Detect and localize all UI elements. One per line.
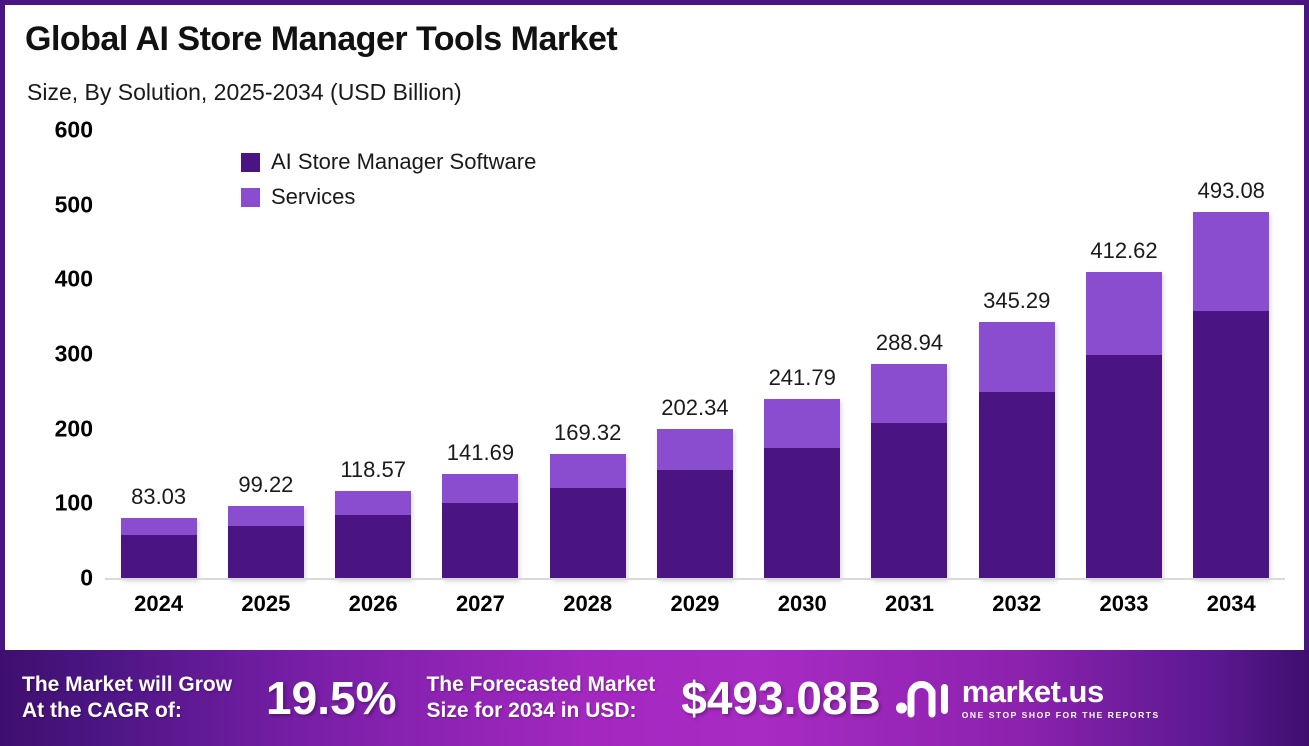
bar-stack[interactable] <box>121 518 197 580</box>
x-axis-tick: 2032 <box>979 591 1055 617</box>
infographic-page: Global AI Store Manager Tools Market Siz… <box>0 0 1309 746</box>
bar-group[interactable]: 345.29 <box>979 132 1055 580</box>
x-axis-tick: 2028 <box>550 591 626 617</box>
bar-segment-software[interactable] <box>657 470 733 580</box>
page-title: Global AI Store Manager Tools Market <box>25 20 617 59</box>
bar-group[interactable]: 493.08 <box>1193 132 1269 580</box>
bar-value-label: 202.34 <box>661 395 728 421</box>
bar-segment-services[interactable] <box>764 399 840 448</box>
bar-value-label: 169.32 <box>554 420 621 446</box>
y-axis-tick: 200 <box>55 415 93 442</box>
bar-segment-services[interactable] <box>979 322 1055 392</box>
bar-stack[interactable] <box>979 322 1055 580</box>
x-axis-tick: 2025 <box>228 591 304 617</box>
bar-group[interactable]: 412.62 <box>1086 132 1162 580</box>
x-axis-tick: 2027 <box>442 591 518 617</box>
forecast-caption: The Forecasted Market Size for 2034 in U… <box>426 672 655 723</box>
y-axis-tick: 100 <box>55 490 93 517</box>
bar-group[interactable]: 202.34 <box>657 132 733 580</box>
bar-group[interactable]: 241.79 <box>764 132 840 580</box>
market-us-logo-text: market.us ONE STOP SHOP FOR THE REPORTS <box>962 676 1160 720</box>
bar-segment-services[interactable] <box>550 454 626 488</box>
cagr-caption-line1: The Market will Grow <box>22 672 232 698</box>
bar-segment-services[interactable] <box>335 491 411 515</box>
bar-value-label: 241.79 <box>769 365 836 391</box>
y-axis-tick: 300 <box>55 341 93 368</box>
bar-stack[interactable] <box>228 506 304 580</box>
bar-group[interactable]: 118.57 <box>335 132 411 580</box>
bar-segment-services[interactable] <box>1086 272 1162 355</box>
bar-segment-software[interactable] <box>335 515 411 580</box>
bar-group[interactable]: 141.69 <box>442 132 518 580</box>
bar-segment-software[interactable] <box>1193 311 1269 580</box>
bar-value-label: 345.29 <box>983 288 1050 314</box>
bar-stack[interactable] <box>550 454 626 580</box>
bar-series: 83.0399.22118.57141.69169.32202.34241.79… <box>105 132 1285 580</box>
bar-group[interactable]: 288.94 <box>871 132 947 580</box>
bar-segment-software[interactable] <box>550 488 626 580</box>
x-axis-labels: 2024202520262027202820292030203120322033… <box>105 591 1285 617</box>
plot-area: 0100200300400500600 83.0399.22118.57141.… <box>105 130 1285 580</box>
bar-segment-software[interactable] <box>1086 355 1162 580</box>
bar-stack[interactable] <box>871 364 947 580</box>
chart-canvas: Global AI Store Manager Tools Market Siz… <box>5 5 1304 650</box>
page-subtitle: Size, By Solution, 2025-2034 (USD Billio… <box>27 79 462 106</box>
bar-segment-software[interactable] <box>228 526 304 580</box>
bar-stack[interactable] <box>442 474 518 580</box>
y-axis-tick: 600 <box>55 117 93 144</box>
bar-segment-software[interactable] <box>871 423 947 580</box>
cagr-caption: The Market will Grow At the CAGR of: <box>22 672 232 723</box>
x-axis-tick: 2034 <box>1193 591 1269 617</box>
summary-banner: The Market will Grow At the CAGR of: 19.… <box>0 650 1309 746</box>
bar-segment-software[interactable] <box>764 448 840 580</box>
bar-stack[interactable] <box>335 491 411 580</box>
y-axis-tick: 0 <box>80 565 93 592</box>
bar-segment-software[interactable] <box>979 392 1055 580</box>
bar-stack[interactable] <box>1193 212 1269 580</box>
y-axis-tick: 500 <box>55 191 93 218</box>
bar-group[interactable]: 169.32 <box>550 132 626 580</box>
bar-stack[interactable] <box>764 399 840 580</box>
bar-segment-services[interactable] <box>121 518 197 535</box>
bar-value-label: 288.94 <box>876 330 943 356</box>
x-axis-tick: 2024 <box>121 591 197 617</box>
forecast-caption-line2: Size for 2034 in USD: <box>426 698 655 724</box>
market-us-logo: market.us ONE STOP SHOP FOR THE REPORTS <box>895 676 1160 720</box>
cagr-value: 19.5% <box>266 671 396 725</box>
bar-segment-software[interactable] <box>121 535 197 580</box>
bar-value-label: 412.62 <box>1090 238 1157 264</box>
bar-segment-services[interactable] <box>657 429 733 470</box>
x-axis-tick: 2030 <box>764 591 840 617</box>
bar-group[interactable]: 83.03 <box>121 132 197 580</box>
bar-segment-services[interactable] <box>442 474 518 503</box>
logo-wordmark: market.us <box>962 676 1160 707</box>
x-axis-tick: 2026 <box>335 591 411 617</box>
bar-value-label: 141.69 <box>447 440 514 466</box>
bar-segment-software[interactable] <box>442 503 518 580</box>
bar-segment-services[interactable] <box>871 364 947 422</box>
x-axis-tick: 2031 <box>871 591 947 617</box>
market-us-logo-mark <box>895 678 953 718</box>
bar-group[interactable]: 99.22 <box>228 132 304 580</box>
x-axis-tick: 2033 <box>1086 591 1162 617</box>
bar-value-label: 118.57 <box>340 457 406 483</box>
forecast-caption-line1: The Forecasted Market <box>426 672 655 698</box>
cagr-caption-line2: At the CAGR of: <box>22 698 232 724</box>
bar-value-label: 493.08 <box>1198 178 1265 204</box>
bar-value-label: 99.22 <box>238 472 293 498</box>
x-axis-line <box>105 578 1285 580</box>
bar-segment-services[interactable] <box>1193 212 1269 311</box>
logo-tagline: ONE STOP SHOP FOR THE REPORTS <box>962 710 1160 720</box>
x-axis-tick: 2029 <box>657 591 733 617</box>
bar-segment-services[interactable] <box>228 506 304 526</box>
y-axis-tick: 400 <box>55 266 93 293</box>
bar-value-label: 83.03 <box>131 484 186 510</box>
bar-stack[interactable] <box>657 429 733 580</box>
bar-stack[interactable] <box>1086 272 1162 580</box>
forecast-value: $493.08B <box>681 671 881 725</box>
